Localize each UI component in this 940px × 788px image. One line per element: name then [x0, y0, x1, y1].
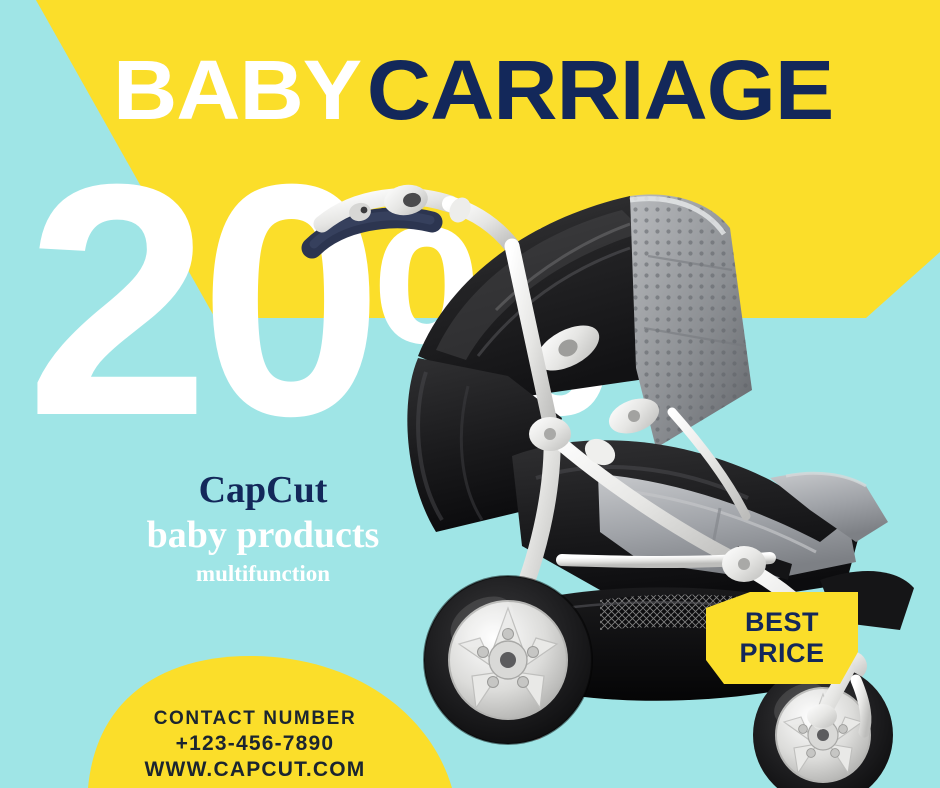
headline-word-carriage: CARRIAGE: [367, 48, 833, 132]
contact-block: CONTACT NUMBER +123-456-7890 WWW.CAPCUT.…: [70, 706, 440, 783]
headline-word-baby: BABY: [113, 48, 361, 132]
brand-name: CapCut: [68, 470, 458, 512]
brand-tagline: multifunction: [68, 560, 458, 588]
best-price-badge[interactable]: BEST PRICE: [706, 592, 858, 684]
contact-label: CONTACT NUMBER: [70, 706, 440, 731]
stroller-wheel-front-real: [424, 576, 592, 744]
headline: BABYCARRIAGE: [0, 48, 940, 132]
brand-block: CapCut baby products multifunction: [68, 470, 458, 588]
contact-website[interactable]: WWW.CAPCUT.COM: [70, 757, 440, 783]
stroller-handle: [312, 182, 512, 248]
badge-line-2: PRICE: [739, 638, 824, 669]
promo-poster: BABYCARRIAGE 20%: [0, 0, 940, 788]
badge-line-1: BEST: [745, 607, 819, 638]
brand-subtitle: baby products: [68, 514, 458, 558]
badge-text: BEST PRICE: [706, 592, 858, 684]
stroller-brake-bar: [536, 734, 770, 742]
contact-phone[interactable]: +123-456-7890: [70, 731, 440, 757]
stroller-rear-hub: [807, 704, 837, 728]
